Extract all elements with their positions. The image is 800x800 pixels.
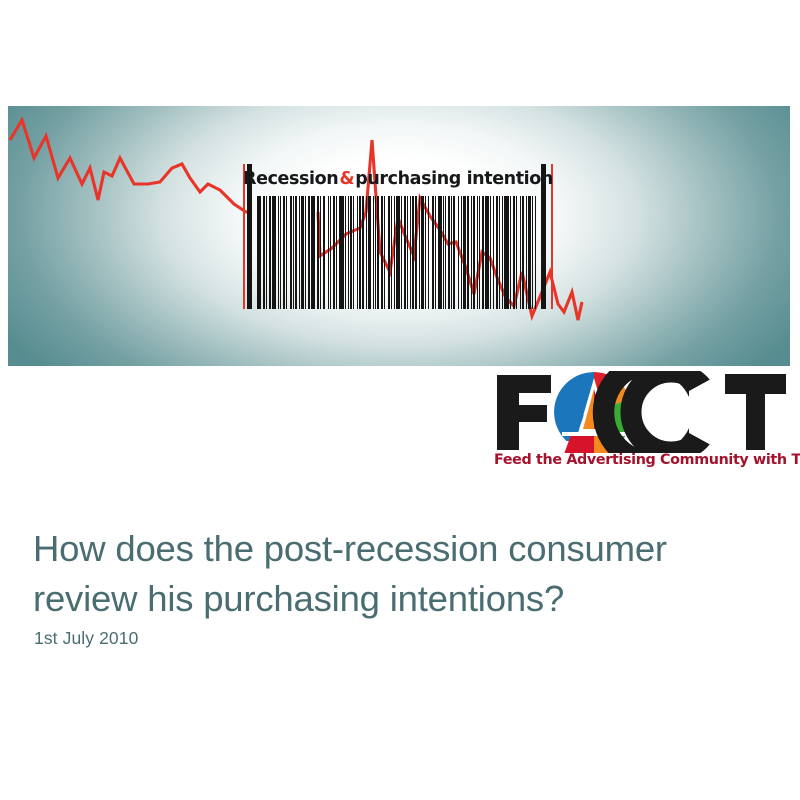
barcode-bar xyxy=(368,196,371,309)
fact-tagline: Feed the Advertising Community with Tren… xyxy=(494,453,790,467)
barcode-bar xyxy=(419,196,420,309)
barcode-bar xyxy=(415,196,417,309)
barcode-bar xyxy=(504,196,509,309)
barcode-bar xyxy=(305,196,306,309)
barcode-bar xyxy=(333,196,335,309)
barcode-bar xyxy=(425,196,426,309)
barcode-bar xyxy=(330,196,331,309)
barcode-bar xyxy=(295,196,297,309)
barcode-bar xyxy=(410,196,411,309)
barcode-bar xyxy=(532,196,533,309)
fact-logo: Feed the Advertising Community with Tren… xyxy=(493,371,790,479)
barcode-bar xyxy=(345,196,346,309)
barcode-bar xyxy=(311,196,315,309)
barcode-bar xyxy=(396,196,400,309)
barcode-label-part2: purchasing intention xyxy=(355,171,553,189)
barcode-bar xyxy=(496,196,498,309)
barcode-bar xyxy=(375,196,376,309)
barcode-bar xyxy=(286,196,287,309)
barcode-bar xyxy=(453,196,455,309)
barcode-bars xyxy=(257,196,539,309)
logo-letter-t xyxy=(725,374,786,450)
barcode-bar xyxy=(283,196,285,309)
barcode-bar xyxy=(290,196,292,309)
barcode-bar xyxy=(482,196,484,309)
barcode-bar xyxy=(323,196,325,309)
fact-wordmark xyxy=(493,371,790,453)
barcode-bar xyxy=(263,196,265,309)
barcode-bar xyxy=(381,196,383,309)
barcode-bar xyxy=(301,196,304,309)
barcode-bar xyxy=(384,196,385,309)
barcode-bar xyxy=(269,196,271,309)
barcode-label: Recession & purchasing intention xyxy=(257,165,539,194)
barcode-bar xyxy=(516,196,517,309)
barcode-bar xyxy=(502,196,503,309)
barcode-bar xyxy=(401,196,402,309)
barcode-bar xyxy=(362,196,364,309)
barcode-bar xyxy=(485,196,489,309)
page-title-line2: review his purchasing intentions? xyxy=(33,574,763,624)
barcode-bar xyxy=(272,196,276,309)
barcode-graphic: Recession & purchasing intention xyxy=(243,164,553,309)
barcode-bar xyxy=(458,196,459,309)
barcode-bar xyxy=(522,196,524,309)
barcode-bar xyxy=(359,196,361,309)
barcode-bar xyxy=(350,196,352,309)
barcode-bar xyxy=(448,196,450,309)
barcode-bar xyxy=(339,196,344,309)
barcode-bar xyxy=(412,196,414,309)
barcode-bar xyxy=(493,196,494,309)
barcode-bar xyxy=(278,196,279,309)
barcode-bar xyxy=(328,196,329,309)
barcode-bar xyxy=(266,196,267,309)
barcode-bar xyxy=(428,196,429,309)
hero-banner: Recession & purchasing intention xyxy=(8,106,790,366)
barcode-bar xyxy=(528,196,531,309)
barcode-bar xyxy=(299,196,300,309)
barcode-bar xyxy=(432,196,434,309)
barcode-bar xyxy=(445,196,446,309)
barcode-bar xyxy=(473,196,475,309)
barcode-bar xyxy=(435,196,436,309)
barcode-bar xyxy=(467,196,469,309)
barcode-bar xyxy=(471,196,472,309)
barcode-bar xyxy=(404,196,406,309)
barcode-label-part1: Recession xyxy=(243,171,338,189)
barcode-bar xyxy=(366,196,367,309)
barcode-bar xyxy=(320,196,321,309)
barcode-bar xyxy=(499,196,500,309)
barcode-bar xyxy=(407,196,408,309)
barcode-bar xyxy=(293,196,294,309)
barcode-bar xyxy=(443,196,444,309)
barcode-bar xyxy=(438,196,442,309)
barcode-bar xyxy=(535,196,536,309)
barcode-bar xyxy=(388,196,390,309)
presentation-date: 1st July 2010 xyxy=(34,628,138,649)
barcode-bar xyxy=(391,196,392,309)
barcode-bar xyxy=(348,196,349,309)
barcode-bar xyxy=(336,196,337,309)
barcode-bar xyxy=(377,196,379,309)
barcode-bar xyxy=(373,196,374,309)
logo-letter-c xyxy=(593,371,733,453)
barcode-bar xyxy=(477,196,478,309)
barcode-bar xyxy=(280,196,281,309)
barcode-bar xyxy=(257,196,261,309)
barcode-bar xyxy=(463,196,466,309)
page-title: How does the post-recession consumer rev… xyxy=(33,524,763,624)
barcode-bar xyxy=(451,196,452,309)
barcode-bar xyxy=(421,196,424,309)
trend-line-left xyxy=(10,120,252,212)
barcode-bar xyxy=(357,196,358,309)
barcode-bar xyxy=(317,196,319,309)
barcode-bar xyxy=(513,196,515,309)
barcode-bar xyxy=(490,196,491,309)
logo-letter-f xyxy=(497,375,551,450)
barcode-bar xyxy=(526,196,527,309)
barcode-bar xyxy=(510,196,511,309)
barcode-bar xyxy=(353,196,354,309)
barcode-bar xyxy=(308,196,310,309)
barcode-label-ampersand: & xyxy=(338,171,355,189)
barcode-bar xyxy=(461,196,462,309)
barcode-bar xyxy=(394,196,395,309)
page-title-line1: How does the post-recession consumer xyxy=(33,528,667,569)
barcode-bar xyxy=(520,196,521,309)
barcode-bar xyxy=(479,196,480,309)
